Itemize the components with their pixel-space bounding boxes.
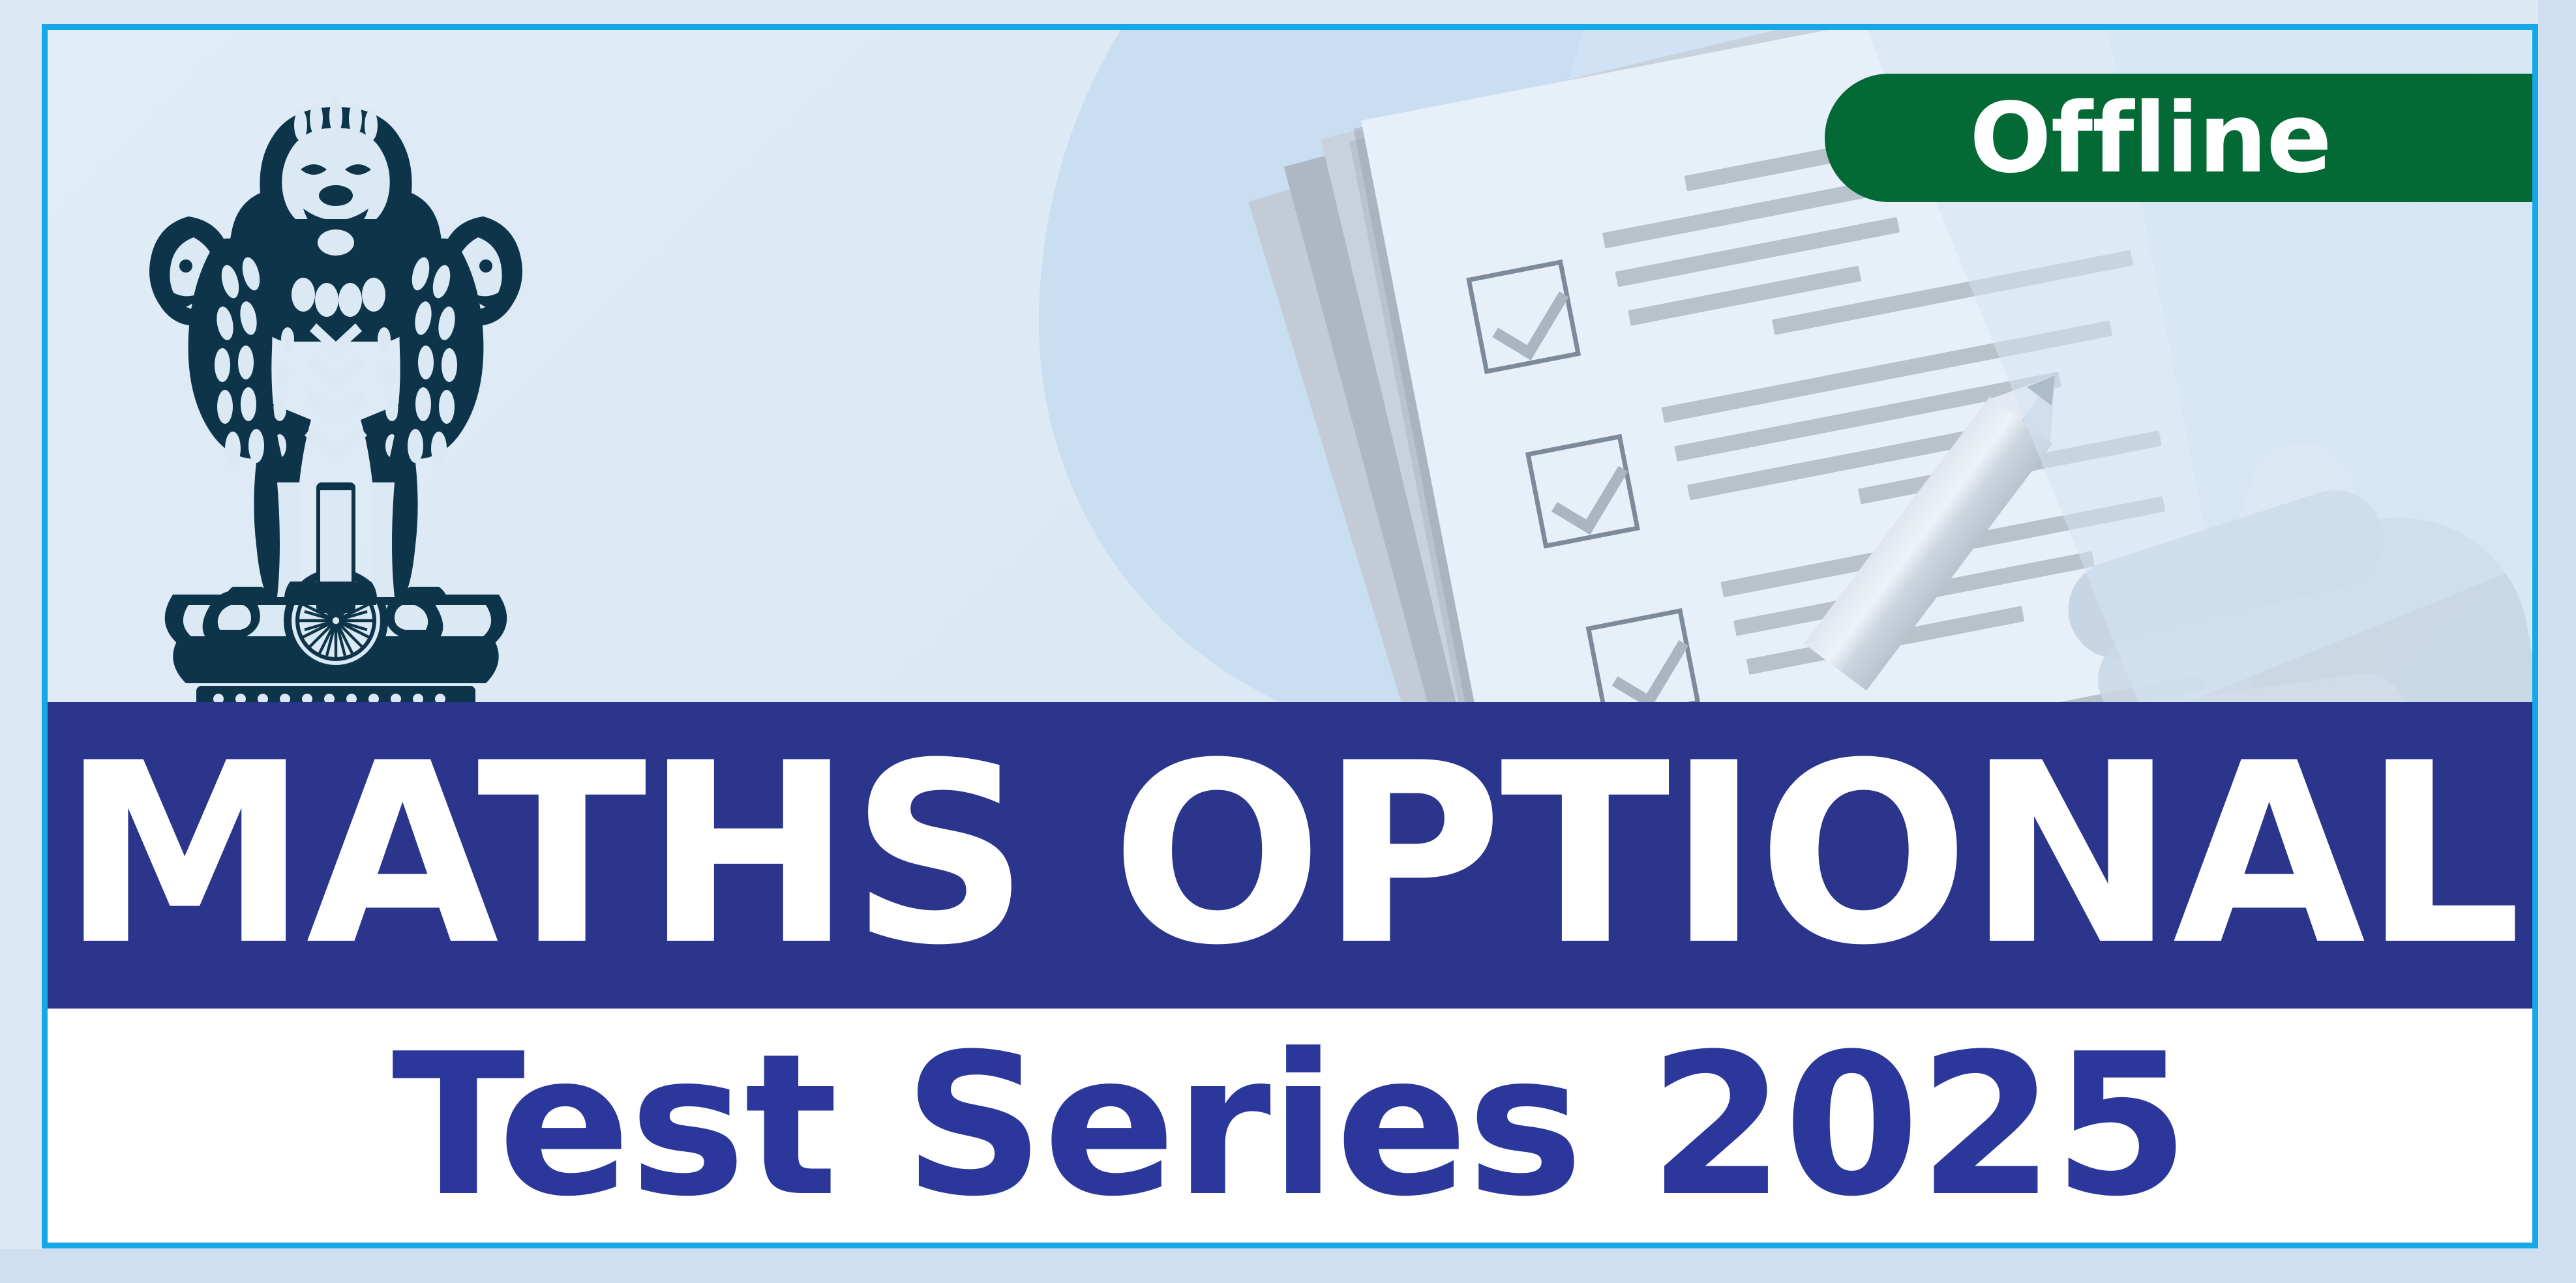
offline-badge: Offline: [1825, 74, 2576, 202]
course-title: MATHS OPTIONAL: [61, 731, 2519, 980]
state-emblem-of-india-icon: [121, 76, 551, 728]
course-subtitle: Test Series 2025: [392, 1028, 2188, 1224]
course-title-band: MATHS OPTIONAL: [48, 702, 2532, 1009]
checkmark-icon: [1492, 274, 1568, 360]
outer-margin-bottom: [0, 1249, 2576, 1283]
outer-margin-right: [2538, 0, 2576, 1283]
checkmark-icon: [1551, 449, 1628, 535]
checkbox-2: [1525, 434, 1640, 549]
checkmark-icon: [1612, 623, 1688, 709]
checkbox-1: [1466, 259, 1581, 374]
outer-margin-top: [0, 0, 2576, 24]
outer-margin-left: [0, 0, 42, 1283]
course-subtitle-band: Test Series 2025: [48, 1009, 2532, 1243]
course-banner: Offline MATHS OPTIONAL Test Series 2025: [0, 0, 2576, 1283]
offline-badge-label: Offline: [1969, 90, 2331, 186]
